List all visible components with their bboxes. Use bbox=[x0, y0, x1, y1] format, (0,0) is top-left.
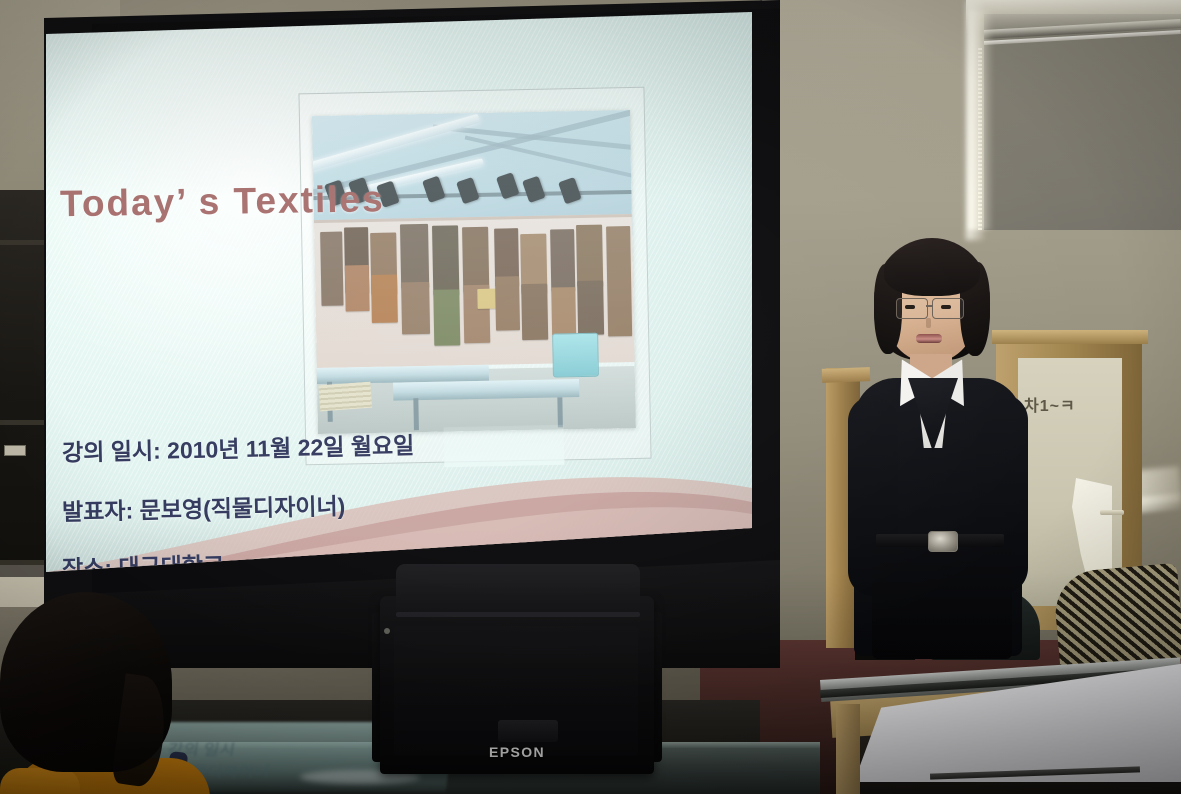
audience-member-foreground bbox=[0, 592, 200, 794]
presenter-mouth bbox=[916, 334, 942, 343]
window-light-leak-top bbox=[966, 0, 1181, 34]
easel-paper-clip bbox=[1100, 510, 1124, 515]
right-work-table bbox=[820, 640, 1181, 794]
window-roller-blind bbox=[966, 0, 1181, 230]
belt-buckle bbox=[928, 531, 958, 552]
table-leg bbox=[836, 704, 860, 794]
presenter-hair-fringe bbox=[884, 244, 980, 296]
slide-vignette bbox=[46, 12, 752, 588]
bag-top-flap bbox=[396, 564, 640, 616]
bag-zipper-pull bbox=[384, 628, 390, 634]
projected-slide: Today’ s Textiles 강의 일시: 2010년 11월 22일 월… bbox=[46, 12, 752, 588]
bag-handle bbox=[498, 720, 558, 742]
blind-fabric bbox=[984, 14, 1181, 230]
glasses-bridge bbox=[926, 305, 933, 307]
cabinet-label bbox=[4, 445, 26, 456]
presenter-eye-left bbox=[905, 305, 915, 309]
lecture-room-photo: Today’ s Textiles 강의 일시: 2010년 11월 22일 월… bbox=[0, 0, 1181, 794]
presenter-nose bbox=[926, 318, 931, 328]
window-edge-glow bbox=[966, 0, 984, 240]
bag-flap-edge bbox=[396, 612, 640, 617]
presenter bbox=[836, 236, 1046, 656]
bag-brand-label: EPSON bbox=[372, 744, 662, 760]
presenter-eye-right bbox=[941, 305, 951, 309]
epson-projector-bag: EPSON bbox=[372, 560, 662, 778]
